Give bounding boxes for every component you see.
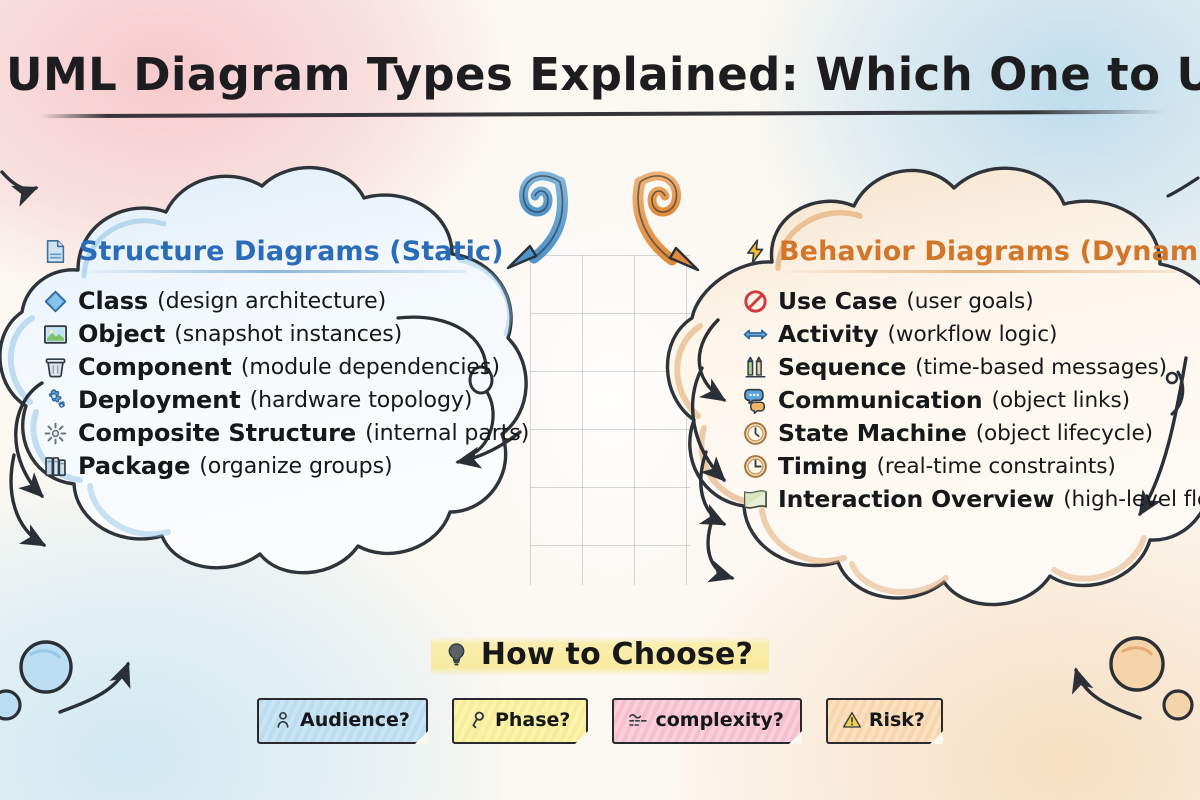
grid-paper-texture (530, 255, 690, 585)
list-item-deployment[interactable]: Deployment (hardware topology) (42, 386, 512, 414)
note-label: Phase? (495, 709, 571, 731)
warning-icon (842, 710, 862, 730)
item-name: Component (78, 353, 232, 381)
arrow-to-interaction-overview (708, 520, 732, 578)
behavior-column: Behavior Diagrams (Dynamic) Use Case (us… (742, 236, 1200, 518)
structure-column: Structure Diagrams (Static) Class (desig… (42, 236, 512, 485)
sparkle-burst-icon (42, 420, 69, 447)
structure-heading: Structure Diagrams (Static) (79, 236, 504, 267)
list-item-sequence[interactable]: Sequence (time-based messages) (742, 353, 1200, 381)
list-item-object[interactable]: Object (snapshot instances) (42, 320, 512, 348)
item-name: Communication (778, 386, 983, 414)
item-name: Activity (778, 320, 879, 348)
item-name: Object (78, 320, 165, 348)
blue-diamond-icon (42, 288, 69, 315)
arrow-left-to-composite (16, 383, 42, 496)
item-desc: (workflow logic) (888, 322, 1058, 347)
item-desc: (user goals) (906, 289, 1033, 314)
sticky-note-audience[interactable]: Audience? (257, 698, 428, 744)
arrow-left-to-package (11, 455, 44, 545)
item-name: Class (78, 287, 148, 315)
wastebasket-icon (42, 354, 69, 381)
item-desc: (real-time constraints) (877, 454, 1116, 479)
item-name: Interaction Overview (778, 485, 1054, 513)
item-desc: (organize groups) (199, 454, 392, 479)
wavy-lines-icon (628, 710, 648, 730)
clock-icon (742, 420, 769, 447)
list-item-interaction-overview[interactable]: Interaction Overview (high-level flow (742, 485, 1200, 513)
title-underline (40, 110, 1165, 118)
item-name: Sequence (778, 353, 906, 381)
item-desc: (design architecture) (157, 289, 386, 314)
sticky-note-risk[interactable]: Risk? (826, 698, 943, 744)
item-name: State Machine (778, 419, 967, 447)
list-item-composite-structure[interactable]: Composite Structure (internal parts) (42, 419, 512, 447)
note-label: Risk? (869, 709, 925, 731)
flag-wave-icon (742, 486, 769, 513)
item-desc: (hardware topology) (250, 388, 473, 413)
item-name: Use Case (778, 287, 897, 315)
behavior-heading-row: Behavior Diagrams (Dynamic) (742, 236, 1200, 267)
item-name: Composite Structure (78, 419, 356, 447)
structure-heading-rule (76, 270, 466, 273)
how-to-choose-text: How to Choose? (481, 637, 753, 672)
behavior-heading-rule (776, 270, 1176, 273)
structure-list: Class (design architecture) Object (snap… (42, 287, 512, 480)
structure-heading-row: Structure Diagrams (Static) (42, 236, 512, 267)
how-to-choose-highlight: How to Choose? (431, 634, 769, 677)
arrow-top-right (1168, 178, 1198, 196)
sticky-note-complexity[interactable]: complexity? (612, 698, 801, 744)
item-desc: (internal parts) (365, 421, 529, 446)
list-item-activity[interactable]: Activity (workflow logic) (742, 320, 1200, 348)
note-label: Audience? (300, 709, 410, 731)
pencils-icon (742, 354, 769, 381)
list-item-state-machine[interactable]: State Machine (object lifecycle) (742, 419, 1200, 447)
gears-icon (42, 387, 69, 414)
arrow-to-state-machine (693, 368, 724, 480)
item-desc: (module dependencies) (241, 355, 500, 380)
item-desc: (snapshot instances) (174, 322, 402, 347)
clock-three-icon (742, 453, 769, 480)
arrow-to-timing (701, 452, 724, 524)
key-icon (468, 710, 488, 730)
item-name: Package (78, 452, 190, 480)
item-desc: (object lifecycle) (976, 421, 1153, 446)
light-bulb-icon (443, 641, 470, 668)
orange-spiral-arrow (638, 176, 698, 270)
item-name: Timing (778, 452, 868, 480)
list-item-timing[interactable]: Timing (real-time constraints) (742, 452, 1200, 480)
behavior-list: Use Case (user goals) Activity (workflow… (742, 287, 1200, 513)
left-right-arrow-icon (742, 321, 769, 348)
arrow-to-sequence (699, 320, 724, 400)
item-name: Deployment (78, 386, 241, 414)
framed-picture-icon (42, 321, 69, 348)
behavior-heading: Behavior Diagrams (Dynamic) (779, 236, 1200, 267)
list-item-use-case[interactable]: Use Case (user goals) (742, 287, 1200, 315)
note-label: complexity? (655, 709, 783, 731)
infographic-canvas: UML Diagram Types Explained: Which One t… (0, 0, 1200, 800)
document-icon (42, 238, 69, 265)
list-item-package[interactable]: Package (organize groups) (42, 452, 512, 480)
sticky-notes-row: Audience? Phase? complexity? (0, 698, 1200, 744)
list-item-communication[interactable]: Communication (object links) (742, 386, 1200, 414)
item-desc: (object links) (992, 388, 1130, 413)
item-desc: (time-based messages) (915, 355, 1167, 380)
title-block: UML Diagram Types Explained: Which One t… (0, 48, 1200, 107)
how-to-choose-block: How to Choose? (0, 634, 1200, 677)
page-title: UML Diagram Types Explained: Which One t… (0, 48, 1200, 107)
books-icon (42, 453, 69, 480)
prohibited-icon (742, 288, 769, 315)
lightning-bolt-icon (742, 238, 769, 265)
list-item-component[interactable]: Component (module dependencies) (42, 353, 512, 381)
arrow-top-left (2, 172, 36, 189)
blue-spiral-arrow (508, 176, 563, 268)
speech-bubbles-icon (742, 387, 769, 414)
sticky-note-phase[interactable]: Phase? (452, 698, 589, 744)
item-desc: (high-level flow (1063, 487, 1200, 512)
person-icon (273, 710, 293, 730)
list-item-class[interactable]: Class (design architecture) (42, 287, 512, 315)
